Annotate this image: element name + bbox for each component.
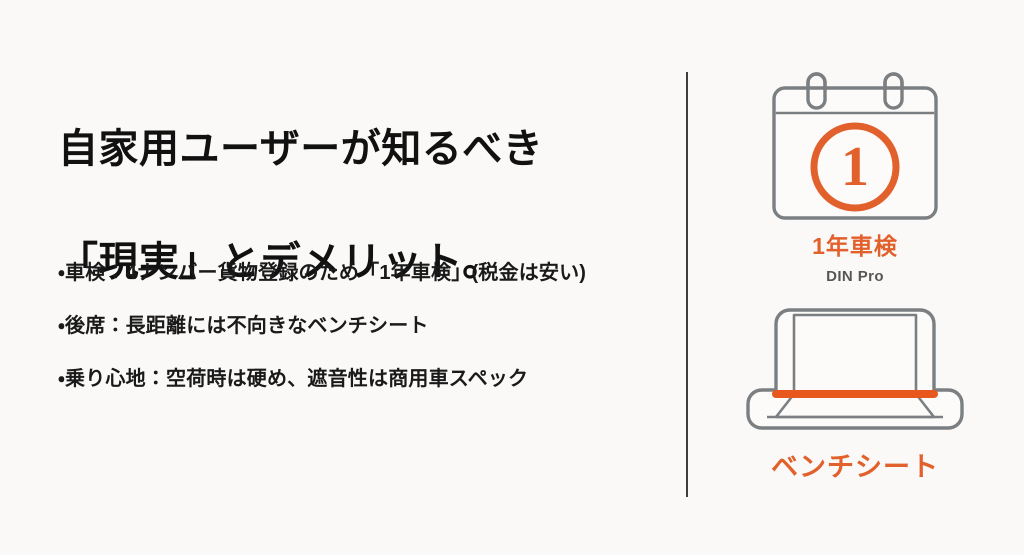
list-item: ・乗り心地：空荷時は硬め、遮音性は商用車スペック xyxy=(58,367,678,392)
calendar-icon-block: 1 1年車検 DIN Pro xyxy=(700,68,1010,286)
slide-root: 自家用ユーザーが知るべき 「現実」とデメリット。 ・車検：4ナンバー貨物登録のた… xyxy=(0,0,1024,555)
calendar-number: 1 xyxy=(841,136,869,198)
list-item: ・車検：4ナンバー貨物登録のため「1年車検」(税金は安い) xyxy=(58,261,678,286)
bench-seat-icon-block: ベンチシート xyxy=(700,302,1010,483)
calendar-one-icon: 1 xyxy=(760,68,950,223)
page-title-line-1: 自家用ユーザーが知るべき xyxy=(58,121,658,178)
bench-seat-label: ベンチシート xyxy=(700,451,1010,483)
right-icon-column: 1 1年車検 DIN Pro xyxy=(700,60,1010,483)
bullet-list: ・車検：4ナンバー貨物登録のため「1年車検」(税金は安い) ・後席：長距離には不… xyxy=(58,261,678,392)
list-item: ・後席：長距離には不向きなベンチシート xyxy=(58,314,678,339)
vertical-divider xyxy=(686,72,688,497)
bench-seat-icon xyxy=(740,302,970,437)
calendar-sublabel: DIN Pro xyxy=(700,268,1010,286)
calendar-label: 1年車検 xyxy=(700,233,1010,261)
left-content-column: 自家用ユーザーが知るべき 「現実」とデメリット。 ・車検：4ナンバー貨物登録のた… xyxy=(58,64,658,348)
